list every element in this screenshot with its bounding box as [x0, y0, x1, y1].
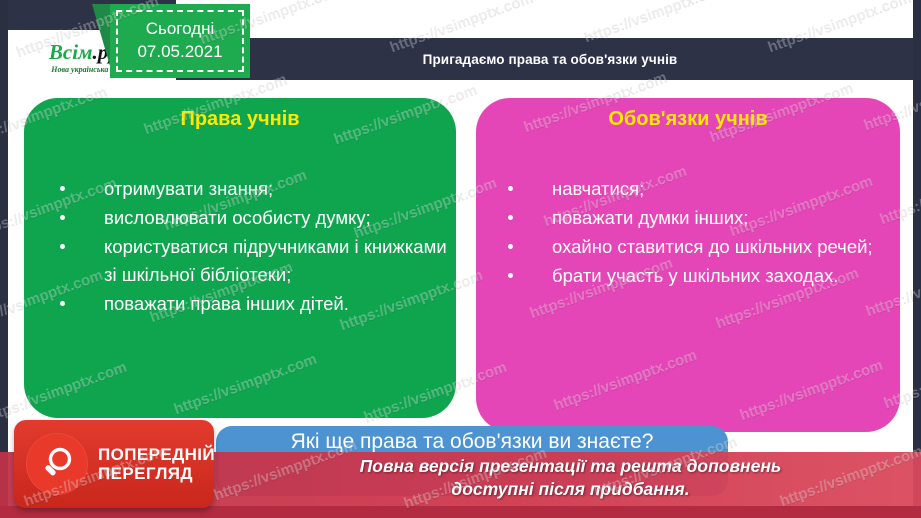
preview-message-line1: Повна версія презентації та решта доповн… [240, 455, 901, 478]
preview-badge-line1: ПОПЕРЕДНІЙ [98, 445, 215, 464]
list-item: поважати думки інших; [490, 204, 900, 232]
preview-message-line2: доступні після придбання. [240, 478, 901, 501]
panel-duties-list: навчатися; поважати думки інших; охайно … [476, 175, 900, 290]
preview-badge-line2: ПЕРЕГЛЯД [98, 464, 215, 483]
list-item: охайно ставитися до шкільних речей; [490, 233, 900, 261]
list-item: брати участь у шкільних заходах. [490, 262, 900, 290]
slide-title: Пригадаємо права та обов'язки учнів [250, 38, 850, 80]
date-badge: Сьогодні 07.05.2021 [110, 4, 250, 78]
list-item: користуватися підручниками і книжками зі… [42, 233, 456, 289]
left-edge-strip [0, 0, 8, 518]
panel-rights-title: Права учнів [24, 98, 456, 131]
preview-badge[interactable]: ПОПЕРЕДНІЙ ПЕРЕГЛЯД [14, 420, 214, 508]
preview-badge-labels: ПОПЕРЕДНІЙ ПЕРЕГЛЯД [98, 445, 215, 483]
panel-duties-title: Обов'язки учнів [476, 98, 900, 131]
panel-duties: Обов'язки учнів навчатися; поважати думк… [476, 98, 900, 432]
slide-canvas: Всім.pptx Нова українська школа Сьогодні… [0, 0, 921, 518]
list-item: поважати права інших дітей. [42, 290, 456, 318]
list-item: навчатися; [490, 175, 900, 203]
list-item: отримувати знання; [42, 175, 456, 203]
magnifier-icon [26, 433, 88, 495]
date-badge-label: Сьогодні [146, 18, 215, 41]
panel-rights-list: отримувати знання; висловлювати особисту… [24, 175, 456, 319]
panel-rights: Права учнів отримувати знання; висловлюв… [24, 98, 456, 418]
preview-overlay-message: Повна версія презентації та решта доповн… [240, 455, 901, 501]
list-item: висловлювати особисту думку; [42, 204, 456, 232]
right-edge-strip [913, 0, 921, 518]
brand-prefix: Всім [49, 40, 93, 64]
date-badge-value: 07.05.2021 [137, 41, 222, 64]
